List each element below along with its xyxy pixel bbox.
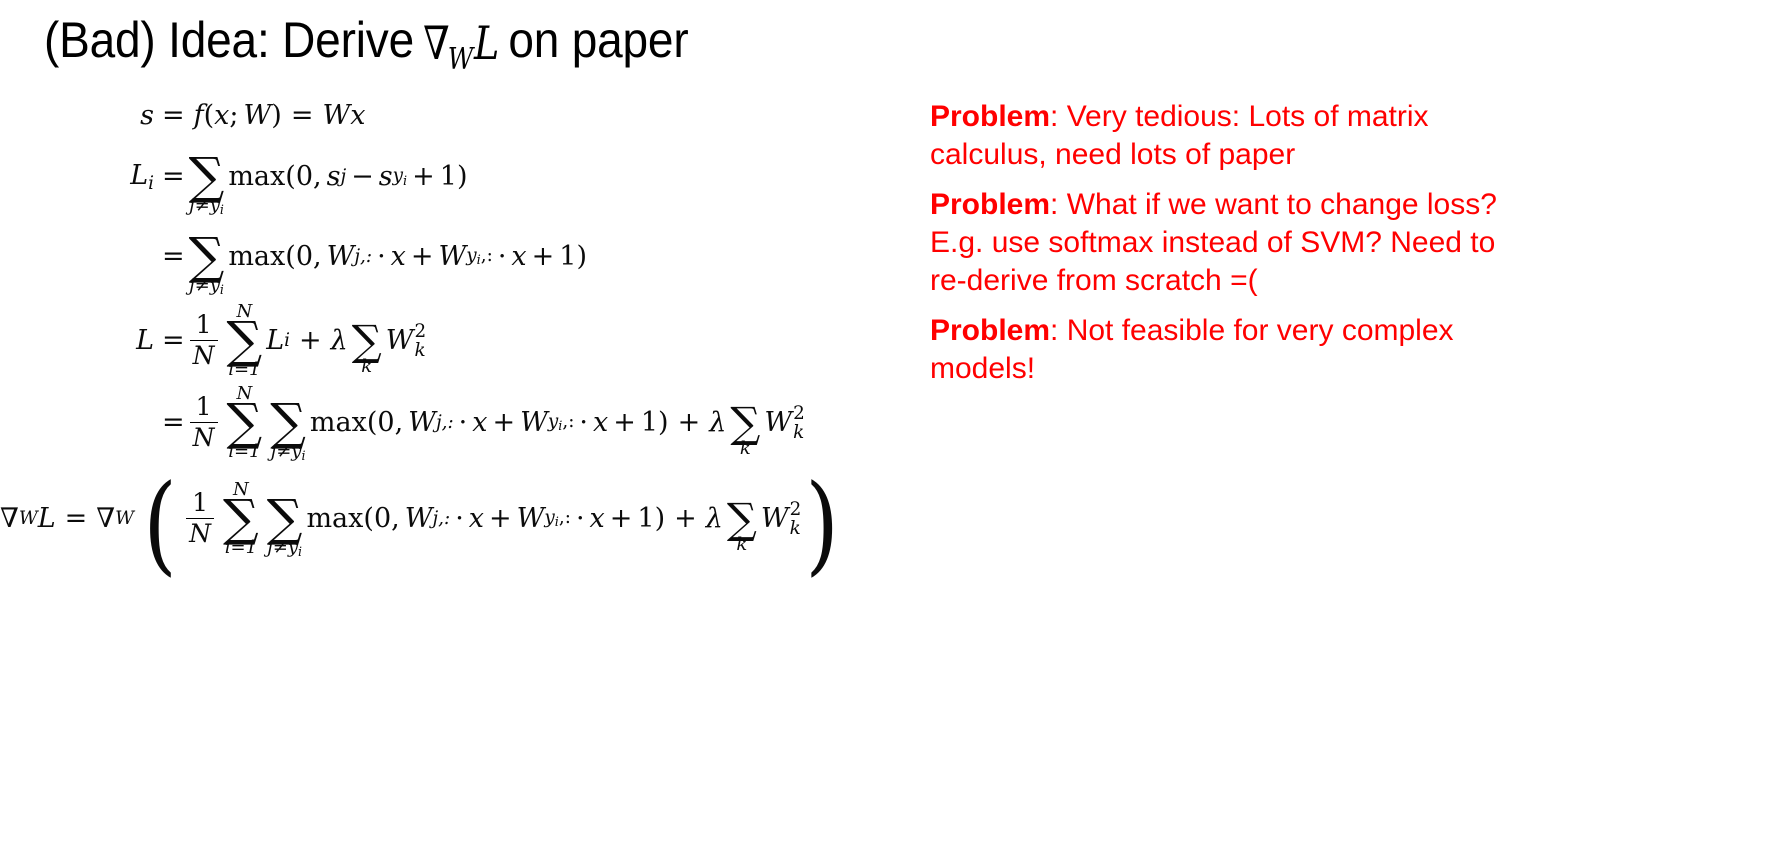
eq1-semicolon: ; [229,100,238,131]
equation-total-loss-expanded: = 1 N N ∑ i=1 N ∑ j≠yi max(0,Wj,:·x+Wyi,… [22,383,902,463]
eq5-sum-lower: i=1 [228,443,260,461]
eq1-W: W [244,100,272,131]
eq2-lhs: L [130,160,148,191]
problem-note-2-label: Problem [930,188,1050,221]
eq5-one: 1 [641,407,658,438]
summation-operator-outer: N ∑ i=1 [227,385,263,461]
sigma-icon: ∑ [270,401,306,444]
eq5-plus-2: + [613,407,636,438]
title-text-before: (Bad) Idea: Derive [44,8,414,72]
equation-hinge-expanded: = N ∑ j≠yi max(0,Wj,:·x+Wyi,:·x+1) [22,217,902,297]
eq2-max: max [228,161,285,192]
eq4-lhs: L [136,325,154,356]
eq4-W: W [386,325,414,356]
equation-gradient: ∇WL=∇W ( 1 N N ∑ i=1 N ∑ j≠yi max(0,Wj,:… [0,479,902,559]
fraction-one-over-n: 1 N [190,394,218,451]
eq4-sum2-lower: k [361,358,372,376]
eq4-equals: = [162,325,185,356]
sigma-icon: ∑ [730,405,760,441]
eq1-equals: = [162,100,185,131]
eq3-plus: + [411,241,434,272]
equation-hinge-loss: Li = N ∑ j≠yi max(0,sj−syi+1) [22,137,902,217]
eq6-cdot: · [455,503,464,534]
eq6-nabla-2-sub: W [115,508,134,529]
eq5-plus: + [492,407,515,438]
eq4-L: L [266,325,284,356]
eq5-W2-sub: yi,: [548,411,575,434]
eq2-plus: + [412,161,435,192]
eq6-equals: = [65,503,88,534]
eq4-sum-lower: i=1 [228,361,260,379]
eq3-zero: 0 [296,241,313,272]
eq6-x2: x [590,503,605,534]
problem-note-3: Problem: Not feasible for very complex m… [930,312,1510,388]
eq5-comma: , [395,407,404,438]
summation-operator-inner: N ∑ j≠yi [267,479,303,559]
eq3-equals: = [162,241,185,272]
eq5-frac-den: N [190,425,218,451]
eq1-open-paren: ( [204,100,215,131]
fraction-one-over-n: 1 N [186,490,214,547]
eq4-lambda: λ [331,325,348,356]
eq6-open-paren: ( [363,503,374,534]
eq6-plus-3: + [674,503,697,534]
title-math-subscript: W [448,28,473,92]
title-gradient-math: ∇WL [414,11,508,92]
eq6-frac-den: N [186,521,214,547]
eq1-close-paren: ) [271,100,282,131]
eq5-Wk: W [764,407,792,438]
eq5-close-paren: ) [658,407,669,438]
eq6-x: x [469,503,484,534]
eq1-W2: W [322,100,350,131]
eq1-function: f [194,100,204,131]
fraction-one-over-n: 1 N [190,312,218,369]
eq3-W-sub: j,: [354,246,372,267]
eq6-nabla-sub: W [19,508,38,529]
problem-note-1: Problem: Very tedious: Lots of matrix ca… [930,98,1510,174]
eq3-x: x [391,241,406,272]
eq5-equals: = [162,407,185,438]
sigma-icon: ∑ [189,235,225,278]
equation-block: s =f(x;W)=Wx Li = N ∑ j≠yi max(0,sj−syi+… [22,100,902,558]
sigma-icon: ∑ [227,401,263,444]
eq6-Wk-indices: 2k [790,501,802,538]
eq6-one: 1 [637,503,654,534]
eq2-lhs-sub: i [148,173,154,194]
eq5-sum3-lower: k [740,440,751,458]
eq3-comma: , [313,241,322,272]
eq1-x2: x [350,100,365,131]
eq5-W2: W [520,407,548,438]
eq2-equals: = [162,161,185,192]
eq5-W: W [408,407,436,438]
eq3-one: 1 [559,241,576,272]
eq2-s-sub: j [340,166,346,187]
eq6-W2-sub: yi,: [544,507,571,530]
eq2-s2: s [379,161,393,192]
eq5-Wk-indices: 2k [793,405,805,442]
eq5-W-sub: j,: [436,412,454,433]
eq6-cdot-2: · [576,503,585,534]
sigma-icon: ∑ [727,501,757,537]
eq1-lhs: s [140,100,154,131]
eq6-Wk: W [761,503,789,534]
eq2-sum-lower: j≠yi [189,197,224,217]
eq3-W2-sub: yi,: [466,245,493,268]
sigma-icon: ∑ [189,155,225,198]
eq3-close-paren: ) [576,241,587,272]
eq2-zero: 0 [296,161,313,192]
eq3-cdot-2: · [498,241,507,272]
eq2-minus: − [351,161,374,192]
eq2-close-paren: ) [457,161,468,192]
eq1-equals-2: = [291,100,314,131]
eq6-plus-2: + [610,503,633,534]
sigma-icon: ∑ [352,323,382,359]
eq3-W: W [327,241,355,272]
eq6-zero: 0 [374,503,391,534]
eq3-open-paren: ( [285,241,296,272]
sigma-icon: ∑ [267,497,303,540]
eq6-frac-num: 1 [189,490,211,516]
eq6-lambda: λ [706,503,723,534]
sigma-icon: ∑ [223,497,259,540]
eq4-plus: + [299,325,322,356]
eq2-s: s [327,161,341,192]
title-math-symbol: L [474,16,499,70]
eq2-comma: , [313,161,322,192]
eq2-s2-sub: yi [393,165,407,188]
eq5-cdot-2: · [579,407,588,438]
title-text-after: on paper [508,8,688,72]
eq3-x2: x [511,241,526,272]
eq4-frac-num: 1 [193,312,215,338]
eq6-W-sub: j,: [432,508,450,529]
eq5-cdot: · [459,407,468,438]
summation-operator-reg: N ∑ k [352,305,382,376]
problem-note-3-label: Problem [930,314,1050,347]
eq6-W: W [405,503,433,534]
problem-note-1-label: Problem [930,100,1050,133]
eq4-L-sub: i [284,330,290,351]
eq5-sum2-lower: j≠yi [271,443,306,463]
eq6-sum-lower: i=1 [225,539,257,557]
eq5-open-paren: ( [367,407,378,438]
eq6-plus: + [489,503,512,534]
eq1-x: x [214,100,229,131]
eq3-max: max [228,241,285,272]
eq6-nabla-2: ∇ [96,503,115,534]
eq5-plus-3: + [678,407,701,438]
eq4-frac-den: N [190,343,218,369]
eq6-W2: W [517,503,545,534]
summation-operator: N ∑ i=1 [227,303,263,379]
summation-operator: N ∑ j≠yi [189,217,225,297]
eq5-zero: 0 [377,407,394,438]
eq4-W-indices: 2k [415,323,427,360]
summation-operator: N ∑ j≠yi [189,137,225,217]
problem-note-2: Problem: What if we want to change loss?… [930,186,1510,300]
eq5-x2: x [593,407,608,438]
eq5-x: x [472,407,487,438]
eq5-frac-num: 1 [193,394,215,420]
eq3-plus-2: + [532,241,555,272]
eq5-max: max [310,407,367,438]
eq6-comma: , [391,503,400,534]
eq2-open-paren: ( [285,161,296,192]
page-title: (Bad) Idea: Derive ∇WL on paper [44,8,688,90]
equation-total-loss: L = 1 N N ∑ i=1 Li+λ N ∑ k W2k [22,303,902,379]
summation-operator-outer: N ∑ i=1 [223,481,259,557]
problem-notes: Problem: Very tedious: Lots of matrix ca… [930,98,1510,388]
eq6-max: max [306,503,363,534]
sigma-icon: ∑ [227,319,263,362]
summation-operator-inner: N ∑ j≠yi [270,383,306,463]
eq3-W2: W [439,241,467,272]
eq6-sum3-lower: k [736,536,747,554]
equation-scores: s =f(x;W)=Wx [22,100,902,131]
summation-operator-reg: N ∑ k [727,483,757,554]
eq6-nabla: ∇ [0,503,19,534]
eq3-cdot: · [377,241,386,272]
eq6-L: L [38,503,56,534]
nabla-icon: ∇ [423,16,449,70]
eq6-sum2-lower: j≠yi [267,539,302,559]
eq2-one: 1 [440,161,457,192]
eq5-lambda: λ [709,407,726,438]
eq3-sum-lower: j≠yi [189,277,224,297]
summation-operator-reg: N ∑ k [730,387,760,458]
eq6-close-paren: ) [655,503,666,534]
